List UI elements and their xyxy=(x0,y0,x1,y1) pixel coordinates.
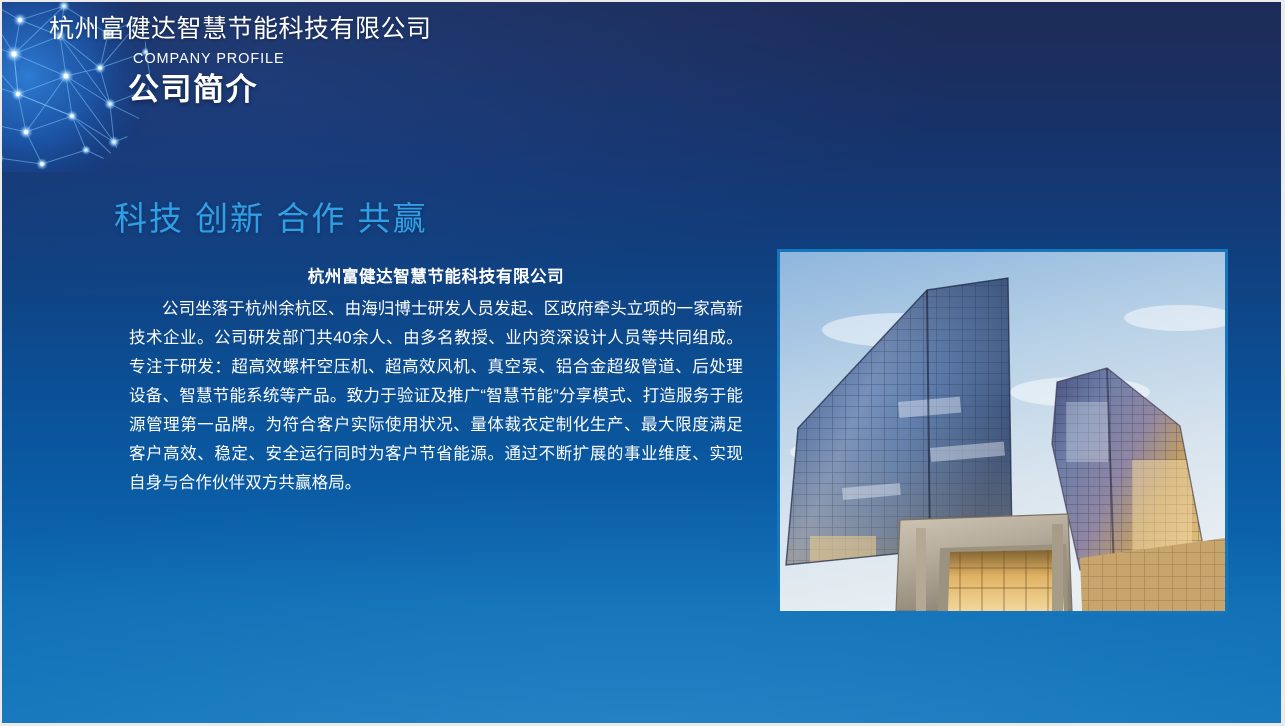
slide-canvas: 杭州富健达智慧节能科技有限公司 COMPANY PROFILE 公司简介 科技 … xyxy=(2,2,1281,723)
body-paragraph: 公司坐落于杭州余杭区、由海归博士研发人员发起、区政府牵头立项的一家高新技术企业。… xyxy=(129,295,743,498)
section-title-chinese: 公司简介 xyxy=(128,70,849,110)
slide-header: 杭州富健达智慧节能科技有限公司 COMPANY PROFILE 公司简介 xyxy=(2,2,1281,140)
body-copy-column: 杭州富健达智慧节能科技有限公司 公司坐落于杭州余杭区、由海归博士研发人员发起、区… xyxy=(129,265,743,498)
building-photo xyxy=(777,249,1228,614)
company-name-title: 杭州富健达智慧节能科技有限公司 xyxy=(49,14,849,45)
body-heading: 杭州富健达智慧节能科技有限公司 xyxy=(129,265,743,289)
tagline: 科技 创新 合作 共赢 xyxy=(114,197,428,241)
header-text-block: 杭州富健达智慧节能科技有限公司 COMPANY PROFILE 公司简介 xyxy=(49,14,849,110)
section-label-english: COMPANY PROFILE xyxy=(133,51,849,67)
